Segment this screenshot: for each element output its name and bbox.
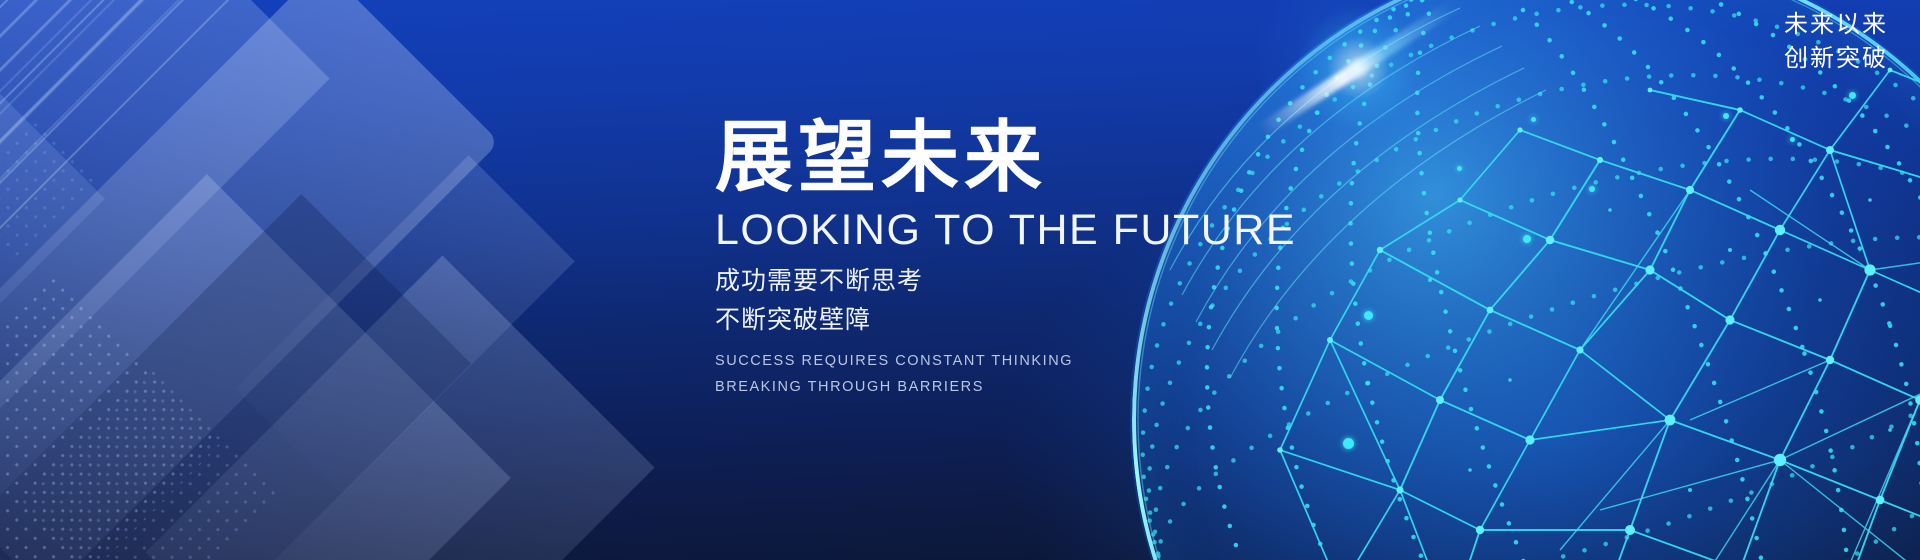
- subtitle-cn-line2: 不断突破壁障: [715, 303, 1435, 338]
- particle-dot: [1849, 92, 1856, 99]
- particle-dot: [1457, 166, 1462, 171]
- left-geometric-decoration: [0, 0, 820, 560]
- subtitle-cn-line1: 成功需要不断思考: [715, 264, 1435, 299]
- particle-dot: [1343, 438, 1354, 449]
- particle-dot: [1589, 186, 1595, 192]
- subtitle-en-line1: SUCCESS REQUIRES CONSTANT THINKING: [715, 349, 1435, 374]
- particle-dot: [1531, 117, 1536, 122]
- headline-block: 展望未来 LOOKING TO THE FUTURE 成功需要不断思考 不断突破…: [715, 118, 1435, 400]
- banner-root: 展望未来 LOOKING TO THE FUTURE 成功需要不断思考 不断突破…: [0, 0, 1920, 560]
- corner-slogan-line2: 创新突破: [1784, 42, 1888, 76]
- particle-dot: [1723, 113, 1729, 119]
- subtitle-en-line2: BREAKING THROUGH BARRIERS: [715, 375, 1435, 400]
- corner-slogan-line1: 未来以来: [1784, 8, 1888, 42]
- particle-dot: [1523, 235, 1531, 243]
- particle-dot: [1790, 137, 1795, 142]
- subtitle-en-block: SUCCESS REQUIRES CONSTANT THINKING BREAK…: [715, 349, 1435, 400]
- page-title-cn: 展望未来: [715, 118, 1435, 196]
- page-title-en: LOOKING TO THE FUTURE: [715, 206, 1435, 254]
- corner-slogan: 未来以来 创新突破: [1784, 8, 1888, 76]
